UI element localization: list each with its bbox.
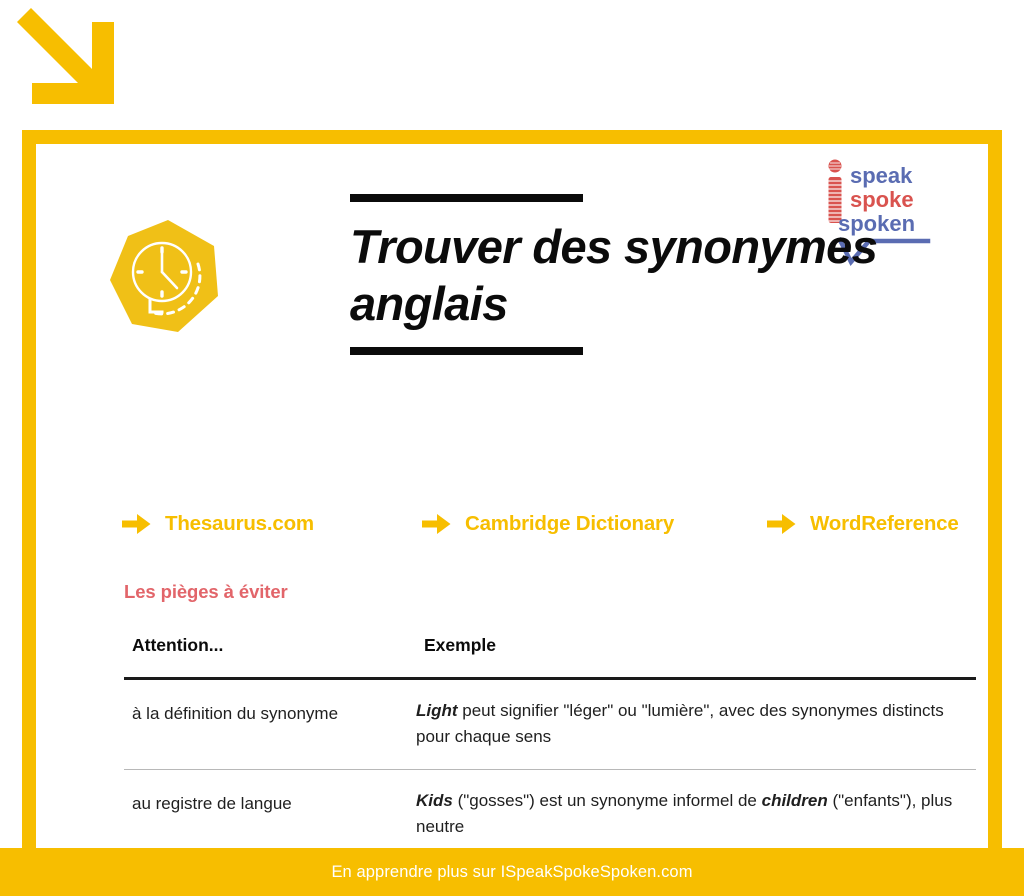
example-term: Light <box>416 701 458 720</box>
title-rule-bottom <box>350 347 583 355</box>
clock-refresh-icon <box>106 218 224 336</box>
cell-attention: au registre de langue <box>124 770 416 859</box>
page-title-line-2: anglais <box>350 277 508 330</box>
table-header-row: Attention... Exemple <box>124 632 976 680</box>
diagonal-arrow-down-right-icon <box>14 8 114 108</box>
poster-root: speak spoke spoken Trouver des synonymes… <box>0 0 1024 896</box>
column-header-attention: Attention... <box>124 632 416 677</box>
resource-link-wordreference[interactable]: WordReference <box>767 512 982 536</box>
page-title: Trouver des synonymesanglais <box>350 218 950 333</box>
example-term: children <box>762 791 828 810</box>
resource-links: Thesaurus.com Cambridge Dictionary WordR… <box>122 512 982 536</box>
arrow-right-icon <box>422 513 451 535</box>
title-rule-top <box>350 194 583 202</box>
table-row: au registre de langueKids ("gosses") est… <box>124 770 976 860</box>
logo-word-speak: speak <box>850 163 913 188</box>
cell-attention: à la définition du synonyme <box>124 680 416 769</box>
arrow-right-icon <box>122 513 151 535</box>
pitfalls-heading: Les pièges à éviter <box>124 581 288 603</box>
cell-example: Light peut signifier "léger" ou "lumière… <box>416 680 976 769</box>
resource-link-thesaurus[interactable]: Thesaurus.com <box>122 512 422 536</box>
arrow-right-icon <box>767 513 796 535</box>
cell-example: Kids ("gosses") est un synonyme informel… <box>416 770 976 859</box>
resource-link-label: Cambridge Dictionary <box>465 512 674 536</box>
title-block: Trouver des synonymesanglais <box>350 194 950 355</box>
footer-band: En apprendre plus sur ISpeakSpokeSpoken.… <box>0 848 1024 896</box>
column-header-exemple: Exemple <box>416 632 976 677</box>
footer-text: En apprendre plus sur ISpeakSpokeSpoken.… <box>331 863 692 882</box>
resource-link-label: WordReference <box>810 512 959 536</box>
example-term: Kids <box>416 791 453 810</box>
content-card: speak spoke spoken Trouver des synonymes… <box>36 144 988 844</box>
resource-link-label: Thesaurus.com <box>165 512 314 536</box>
resource-link-cambridge[interactable]: Cambridge Dictionary <box>422 512 767 536</box>
table-row: à la définition du synonymeLight peut si… <box>124 680 976 770</box>
poster-header: Trouver des synonymesanglais <box>98 176 858 376</box>
page-title-line-1: Trouver des synonymes <box>350 220 877 273</box>
